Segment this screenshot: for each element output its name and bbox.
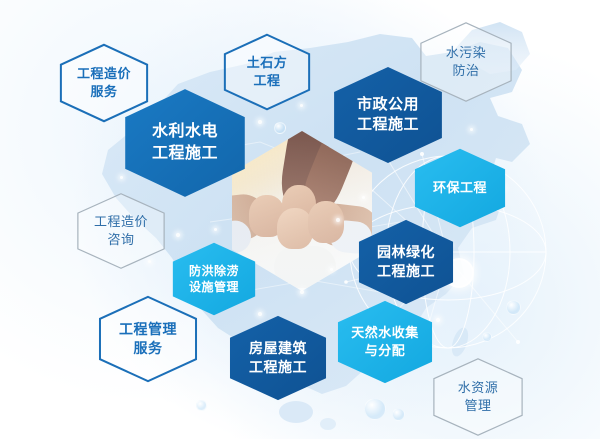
- hexagon-label: 土石方 工程: [247, 54, 288, 89]
- hexagon-label: 天然水收集 与分配: [351, 324, 419, 359]
- hexagon-label: 工程造价 咨询: [94, 213, 148, 248]
- poster-canvas: 工程造价 服务土石方 工程水污染 防治 水利水电 工程施工 市政公用 工程施工 …: [0, 0, 600, 439]
- hexagon-shuili-shuidian[interactable]: 水利水电 工程施工: [124, 88, 246, 198]
- bubble-decoration: [364, 398, 386, 420]
- hexagon-label: 水污染 防治: [446, 44, 487, 79]
- hexagon-label: 环保工程: [433, 179, 487, 197]
- bubble-decoration: [196, 400, 207, 411]
- sparkle-dot: [258, 120, 262, 124]
- hexagon-label: 水资源 管理: [458, 379, 499, 414]
- sparkle-dot: [362, 196, 365, 199]
- hexagon-fangwu-jianzhu[interactable]: 房屋建筑 工程施工: [229, 315, 327, 401]
- bubble-decoration: [482, 332, 492, 342]
- sparkle-dot: [330, 268, 333, 271]
- bubble-decoration: [392, 408, 405, 421]
- hexagon-label: 水利水电 工程施工: [152, 121, 218, 164]
- hexagon-huanbao-gongcheng[interactable]: 环保工程: [414, 148, 506, 228]
- sparkle-dot: [214, 228, 217, 231]
- hexagon-yuanlin-lvhua[interactable]: 园林绿化 工程施工: [358, 219, 454, 305]
- hexagon-shuiziyuan-guanli[interactable]: 水资源 管理: [433, 358, 523, 436]
- hexagon-gongcheng-zaojia-zixun[interactable]: 工程造价 咨询: [77, 193, 165, 269]
- hexagon-label: 园林绿化 工程施工: [377, 243, 435, 281]
- sparkle-dot: [470, 128, 473, 131]
- hexagon-label: 市政公用 工程施工: [357, 95, 419, 136]
- bubble-decoration: [506, 300, 521, 315]
- sparkle-dot: [120, 176, 123, 179]
- hexagon-gongcheng-guanli-fuwu[interactable]: 工程管理 服务: [99, 296, 197, 382]
- hexagon-label: 防洪除涝 设施管理: [189, 263, 239, 295]
- sparkle-dot: [436, 318, 440, 322]
- sparkle-dot: [300, 290, 304, 294]
- hexagon-label: 工程管理 服务: [119, 320, 177, 358]
- sparkle-dot: [176, 233, 180, 237]
- hexagon-tianranshui-shouji[interactable]: 天然水收集 与分配: [337, 300, 433, 384]
- hexagon-label: 房屋建筑 工程施工: [249, 339, 307, 377]
- bubble-decoration: [274, 122, 286, 134]
- sparkle-dot: [336, 218, 340, 222]
- hexagon-label: 工程造价 服务: [77, 65, 131, 100]
